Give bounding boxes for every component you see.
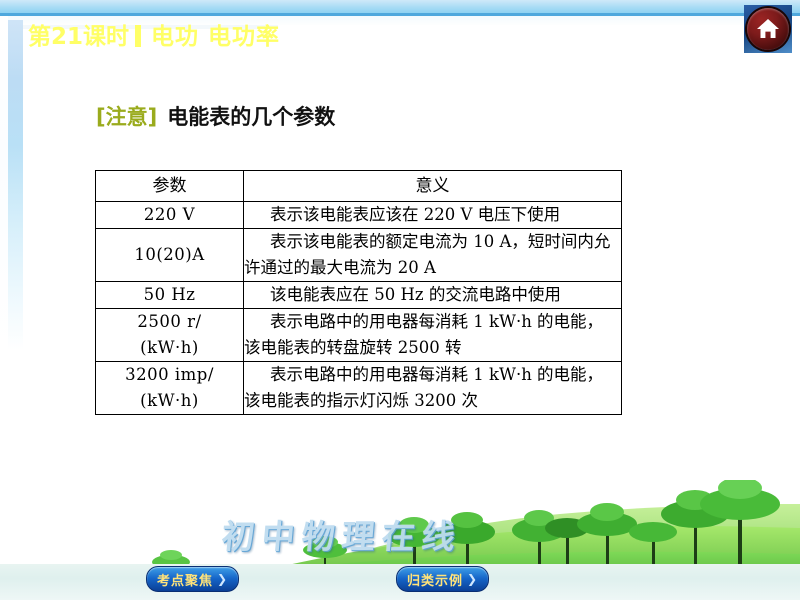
- table-row: 10(20)A 表示该电能表的额定电流为 10 A，短时间内允 许通过的最大电流…: [96, 229, 622, 282]
- param-line-1: 10(20)A: [134, 245, 204, 264]
- chevron-right-icon: ❯: [467, 572, 478, 586]
- cell-meaning: 表示电路中的用电器每消耗 1 kW·h 的电能， 该电能表的转盘旋转 2500 …: [244, 309, 622, 362]
- param-line-2: (kW·h): [96, 335, 243, 361]
- param-line-1: 50 Hz: [144, 285, 196, 304]
- parameters-table: 参数 意义 220 V 表示该电能表应该在 220 V 电压下使用 10(20)…: [95, 170, 622, 415]
- cell-param: 3200 imp/ (kW·h): [96, 362, 244, 415]
- cell-param: 2500 r/ (kW·h): [96, 309, 244, 362]
- cell-meaning: 该电能表应在 50 Hz 的交流电路中使用: [244, 282, 622, 309]
- table-row: 2500 r/ (kW·h) 表示电路中的用电器每消耗 1 kW·h 的电能， …: [96, 309, 622, 362]
- chevron-right-icon: ❯: [217, 572, 228, 586]
- cell-meaning: 表示电路中的用电器每消耗 1 kW·h 的电能， 该电能表的指示灯闪烁 3200…: [244, 362, 622, 415]
- table-header-row: 参数 意义: [96, 171, 622, 202]
- left-strip-edge: [0, 20, 8, 350]
- cell-meaning: 表示该电能表应该在 220 V 电压下使用: [244, 202, 622, 229]
- slide-root: 第21课时电功 电功率 [注意]电能表的几个参数 参数 意义 220 V: [0, 0, 800, 600]
- note-heading: [注意]电能表的几个参数: [96, 101, 335, 131]
- table-row: 220 V 表示该电能表应该在 220 V 电压下使用: [96, 202, 622, 229]
- table-row: 50 Hz 该电能表应在 50 Hz 的交流电路中使用: [96, 282, 622, 309]
- column-header-meaning: 意义: [244, 171, 622, 202]
- title-separator-bar: [135, 25, 141, 47]
- cell-param: 50 Hz: [96, 282, 244, 309]
- nav-button-examples[interactable]: 归类示例 ❯: [396, 566, 489, 592]
- home-button[interactable]: [744, 5, 792, 53]
- nav-button-key-points-label: 考点聚焦: [157, 570, 213, 589]
- param-line-1: 3200 imp/: [125, 365, 214, 384]
- home-icon: [747, 8, 789, 50]
- column-header-param: 参数: [96, 171, 244, 202]
- meaning-line-1: 表示该电能表应该在 220 V 电压下使用: [244, 202, 621, 228]
- table-row: 3200 imp/ (kW·h) 表示电路中的用电器每消耗 1 kW·h 的电能…: [96, 362, 622, 415]
- param-line-1: 220 V: [144, 205, 195, 224]
- meaning-line-1: 该电能表应在 50 Hz 的交流电路中使用: [244, 282, 621, 308]
- meaning-line-2: 该电能表的转盘旋转 2500 转: [244, 335, 621, 361]
- nav-button-key-points[interactable]: 考点聚焦 ❯: [146, 566, 239, 592]
- meaning-line-1: 表示电路中的用电器每消耗 1 kW·h 的电能，: [244, 309, 621, 335]
- param-line-2: (kW·h): [96, 388, 243, 414]
- cell-param: 10(20)A: [96, 229, 244, 282]
- note-tag: [注意]: [96, 105, 157, 129]
- meaning-line-2: 许通过的最大电流为 20 A: [244, 255, 621, 281]
- lesson-subject: 电功 电功率: [151, 24, 280, 50]
- cell-meaning: 表示该电能表的额定电流为 10 A，短时间内允 许通过的最大电流为 20 A: [244, 229, 622, 282]
- page-title: 第21课时电功 电功率: [28, 20, 280, 54]
- meaning-line-1: 表示该电能表的额定电流为 10 A，短时间内允: [244, 229, 621, 255]
- footer-scenery: 初中物理在线 考点聚焦 ❯ 归类示例 ❯: [0, 480, 800, 600]
- lesson-number: 第21课时: [28, 24, 129, 50]
- meaning-line-1: 表示电路中的用电器每消耗 1 kW·h 的电能，: [244, 362, 621, 388]
- meaning-line-2: 该电能表的指示灯闪烁 3200 次: [244, 388, 621, 414]
- nav-button-examples-label: 归类示例: [407, 570, 463, 589]
- note-text: 电能表的几个参数: [167, 105, 335, 129]
- left-accent-strip: [8, 20, 23, 350]
- cell-param: 220 V: [96, 202, 244, 229]
- watermark-text: 初中物理在线: [220, 510, 464, 558]
- param-line-1: 2500 r/: [137, 312, 201, 331]
- top-band: [0, 0, 800, 13]
